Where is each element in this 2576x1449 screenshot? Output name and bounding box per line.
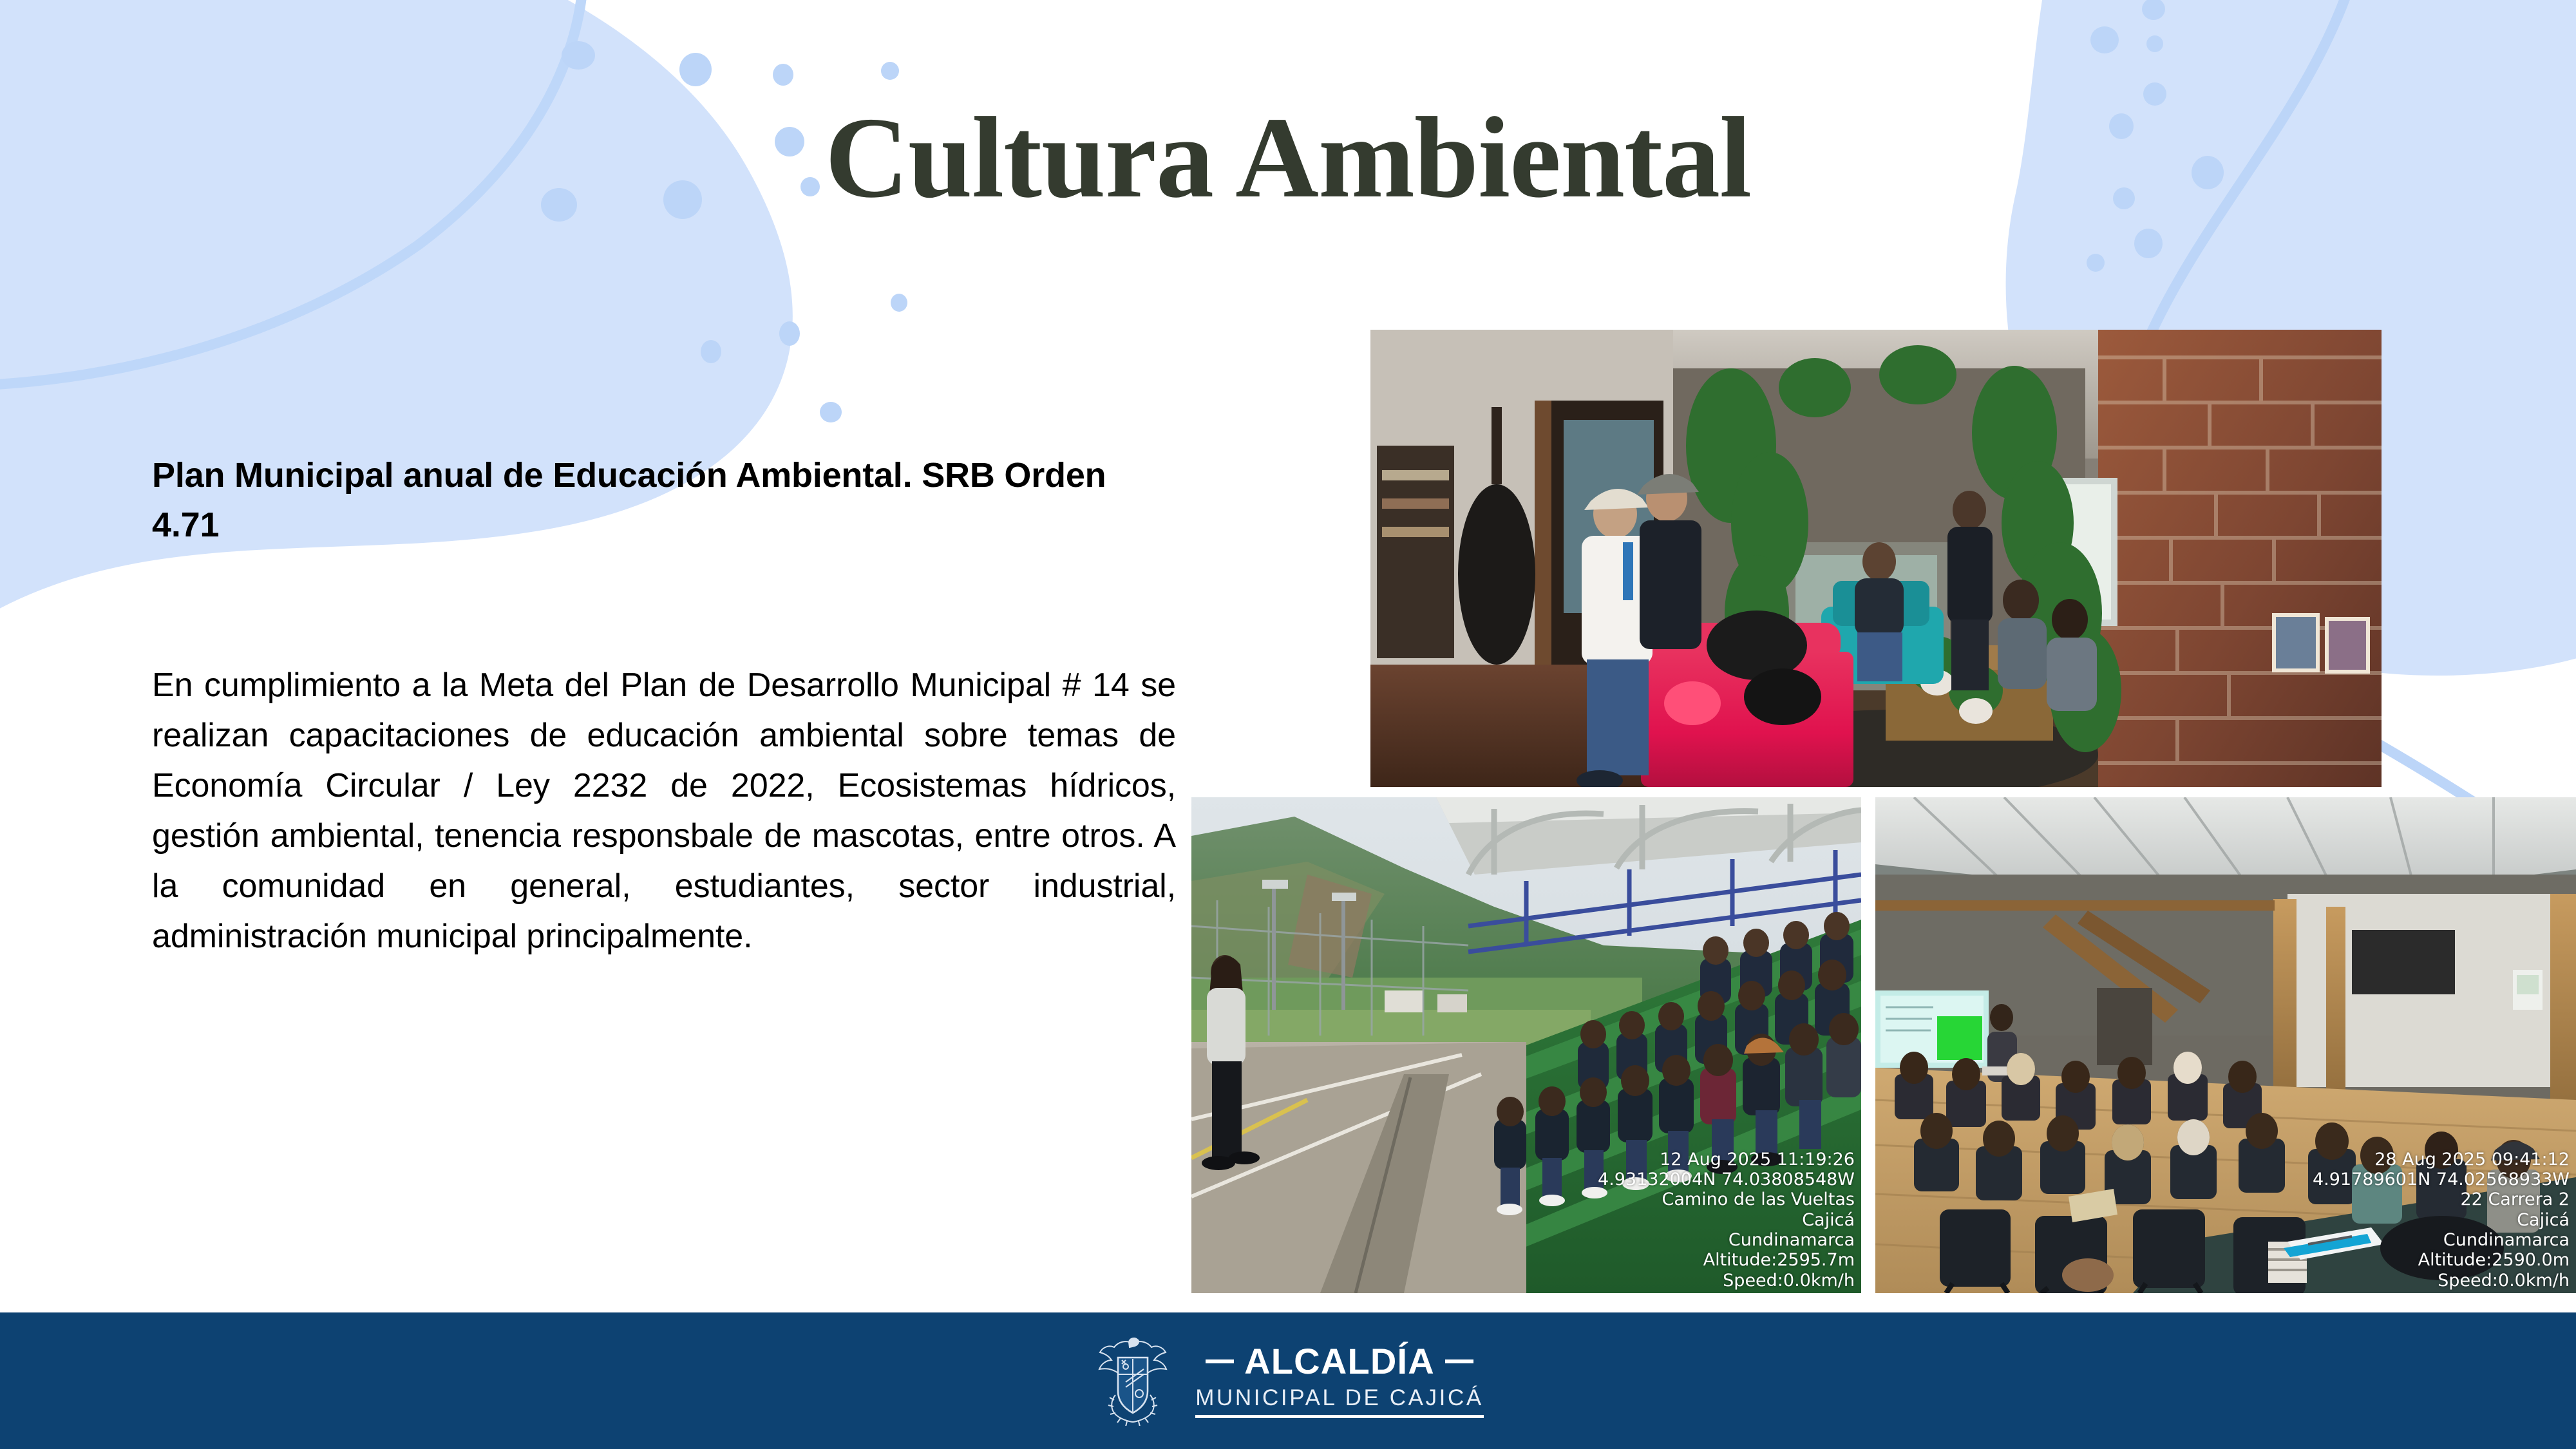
brand-secondary: MUNICIPAL DE CAJICÁ (1195, 1387, 1484, 1409)
text-column: Plan Municipal anual de Educación Ambien… (152, 451, 1176, 961)
logo-underline (1195, 1415, 1484, 1418)
footer-bar: ALCALDÍA MUNICIPAL DE CAJICÁ (0, 1312, 2576, 1449)
gps-city: Cajicá (1598, 1210, 1855, 1230)
gps-place: Camino de las Vueltas (1598, 1189, 1855, 1209)
body-paragraph: En cumplimiento a la Meta del Plan de De… (152, 660, 1176, 961)
gps-place: 22 Carrera 2 (2313, 1189, 2570, 1209)
coat-of-arms-icon (1092, 1336, 1173, 1426)
photo-sports-court-training: 12 Aug 2025 11:19:26 4.93132004N 74.0380… (1191, 797, 1861, 1293)
gps-stamp-photo-right: 28 Aug 2025 09:41:12 4.91789601N 74.0256… (2313, 1150, 2570, 1291)
gps-coordinates: 4.93132004N 74.03808548W (1598, 1170, 1855, 1189)
photo-auditorium-training: 28 Aug 2025 09:41:12 4.91789601N 74.0256… (1875, 797, 2576, 1293)
gps-region: Cundinamarca (1598, 1230, 1855, 1250)
logo-wordmark: ALCALDÍA MUNICIPAL DE CAJICÁ (1195, 1343, 1484, 1418)
gps-altitude: Altitude:2590.0m (2313, 1250, 2570, 1270)
photo-indoor-meeting (1370, 330, 2382, 787)
gps-region: Cundinamarca (2313, 1230, 2570, 1250)
gps-altitude: Altitude:2595.7m (1598, 1250, 1855, 1270)
page-title: Cultura Ambiental (0, 97, 2576, 218)
gps-city: Cajicá (2313, 1210, 2570, 1230)
brand-primary: ALCALDÍA (1244, 1343, 1435, 1379)
gps-stamp-photo-left: 12 Aug 2025 11:19:26 4.93132004N 74.0380… (1598, 1150, 1855, 1291)
gps-speed: Speed:0.0km/h (1598, 1271, 1855, 1291)
alcaldia-logo: ALCALDÍA MUNICIPAL DE CAJICÁ (1092, 1336, 1484, 1426)
dash-right-icon (1445, 1359, 1473, 1363)
dash-left-icon (1206, 1359, 1234, 1363)
gps-speed: Speed:0.0km/h (2313, 1271, 2570, 1291)
gps-coordinates: 4.91789601N 74.02568933W (2313, 1170, 2570, 1189)
gps-datetime: 28 Aug 2025 09:41:12 (2313, 1150, 2570, 1170)
lead-heading: Plan Municipal anual de Educación Ambien… (152, 451, 1176, 549)
gps-datetime: 12 Aug 2025 11:19:26 (1598, 1150, 1855, 1170)
